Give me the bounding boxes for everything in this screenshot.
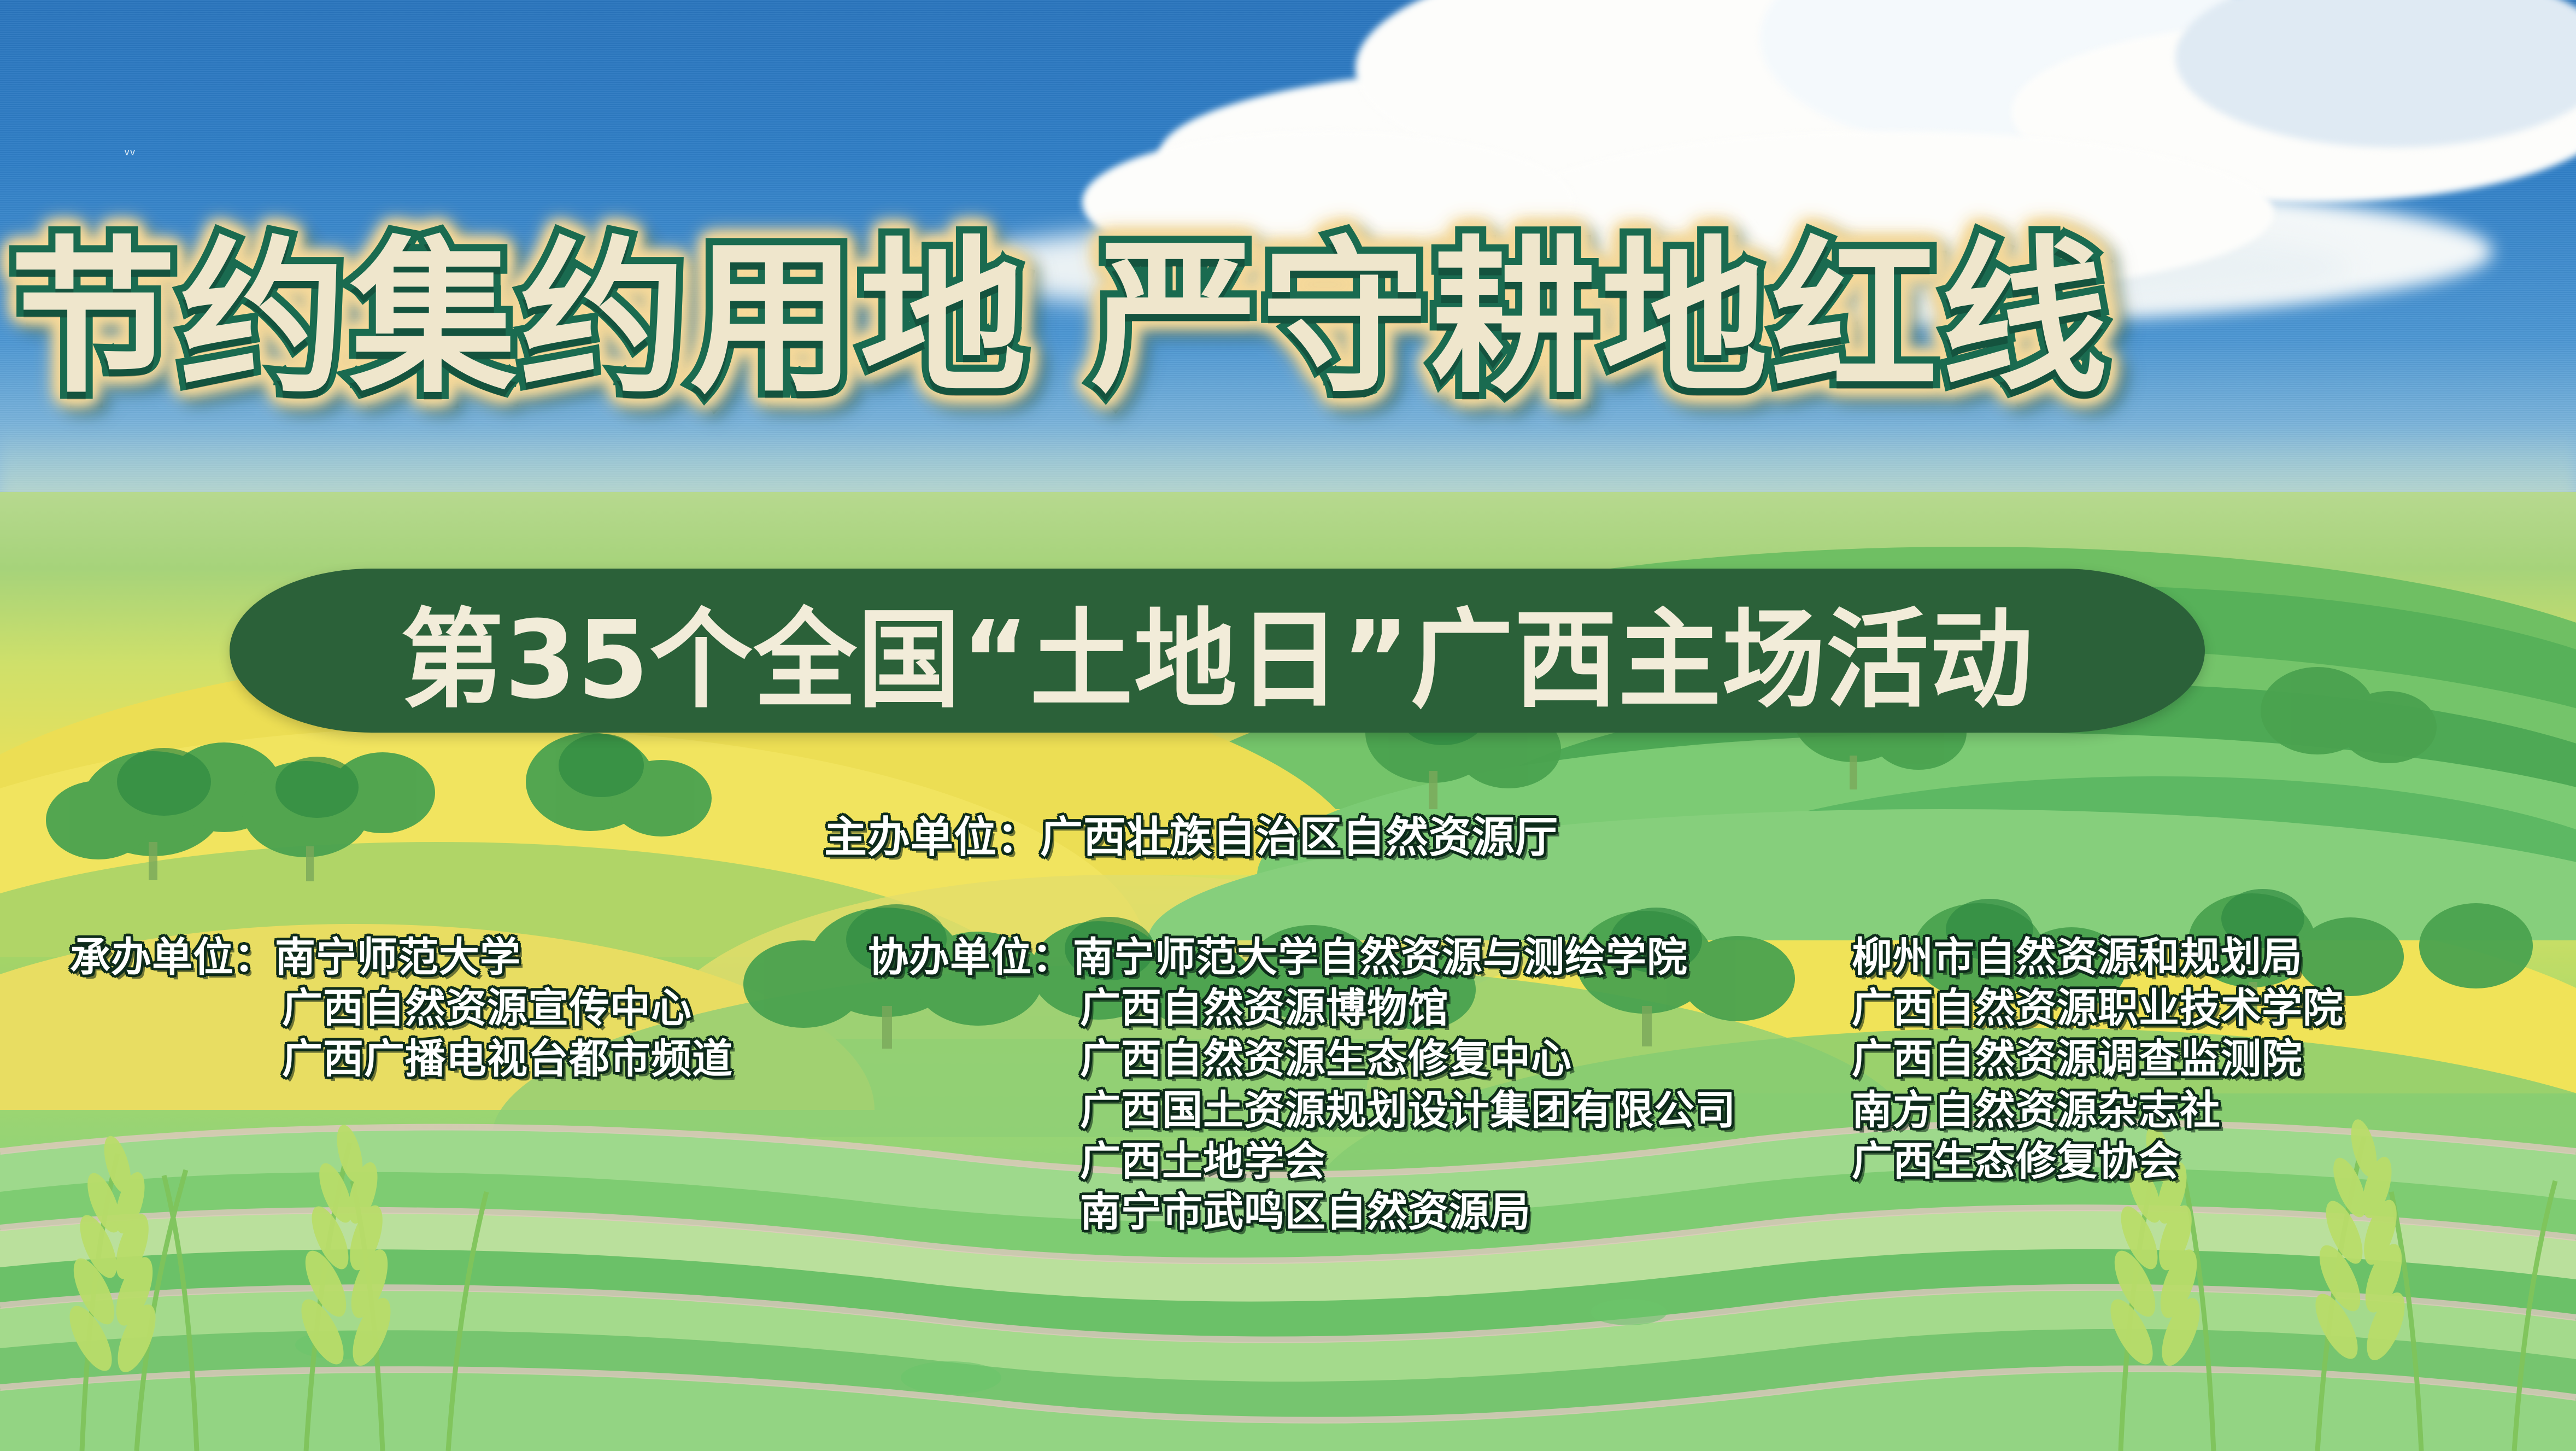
- co-organizer-right-line-4: 南方自然资源杂志社: [1852, 1085, 2344, 1136]
- subtitle-banner: 第35个全国“土地日”广西主场活动: [230, 569, 2205, 733]
- birds-icon: ᵛᵛ: [125, 147, 157, 161]
- co-organizer-line-2: 广西自然资源博物馆: [868, 983, 1736, 1034]
- co-organizer-right-line-5: 广西生态修复协会: [1852, 1136, 2344, 1187]
- co-organizer-right-line-1: 柳州市自然资源和规划局: [1852, 932, 2344, 983]
- co-organizer-line-3: 广西自然资源生态修复中心: [868, 1034, 1736, 1085]
- co-organizer-right-line-3: 广西自然资源调查监测院: [1852, 1034, 2344, 1085]
- host-organizer-line: 主办单位：广西壮族自治区自然资源厅: [824, 811, 1558, 864]
- co-organizer-line-1: 协办单位：南宁师范大学自然资源与测绘学院: [868, 932, 1736, 983]
- co-organizer-line-4: 广西国土资源规划设计集团有限公司: [868, 1085, 1736, 1136]
- co-organizer-column: 协办单位：南宁师范大学自然资源与测绘学院 广西自然资源博物馆 广西自然资源生态修…: [868, 932, 1736, 1238]
- main-title: 节约集约用地 严守耕地红线: [10, 235, 2557, 402]
- co-organizer-line-5: 广西土地学会: [868, 1136, 1736, 1187]
- organizer-line-2: 广西自然资源宣传中心: [70, 983, 733, 1034]
- co-organizer-column-right: 柳州市自然资源和规划局 广西自然资源职业技术学院 广西自然资源调查监测院 南方自…: [1852, 932, 2344, 1187]
- co-organizer-right-line-2: 广西自然资源职业技术学院: [1852, 983, 2344, 1034]
- organizer-line-1: 承办单位：南宁师范大学: [70, 932, 733, 983]
- co-organizer-line-6: 南宁市武鸣区自然资源局: [868, 1187, 1736, 1238]
- poster-canvas: ᵛᵛ: [0, 0, 2576, 1451]
- organizer-column: 承办单位：南宁师范大学 广西自然资源宣传中心 广西广播电视台都市频道: [70, 932, 733, 1085]
- subtitle-banner-text: 第35个全国“土地日”广西主场活动: [269, 569, 2165, 733]
- organizer-line-3: 广西广播电视台都市频道: [70, 1034, 733, 1085]
